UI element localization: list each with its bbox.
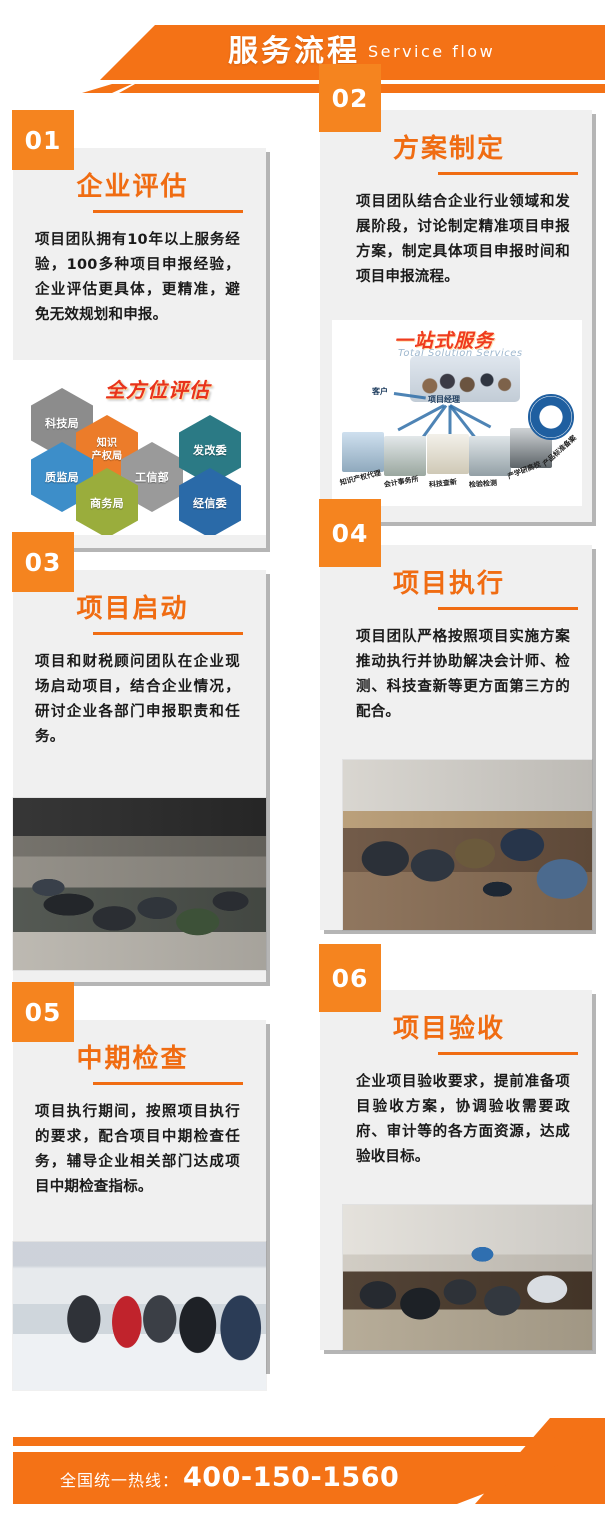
title-underline (438, 172, 578, 175)
step-description: 项目团队结合企业行业领域和发展阶段，讨论制定精准项目申报方案，制定具体项目申报时… (356, 190, 570, 290)
oss-branch-photo (384, 436, 426, 476)
oss-branch-photo (427, 434, 469, 474)
footer-hotline: 全国统一热线： 400-150-1560 (60, 1462, 399, 1493)
oss-certification-seal (528, 394, 574, 440)
step-title: 中期检查 (13, 1042, 252, 1076)
page-title-en: Service flow (368, 42, 495, 61)
step-number-badge: 04 (319, 499, 381, 567)
step-title: 项目验收 (320, 1012, 578, 1046)
step-description: 项目执行期间，按照项目执行的要求，配合项目中期检查任务，辅导企业相关部门达成项目… (35, 1100, 240, 1200)
step-number-badge: 01 (12, 110, 74, 170)
oss-branch-photo (342, 432, 384, 472)
hexagon-diagram: 全方位评估 科技局 知识产权局 质监局 工信部 商务局 发改委 经信委 (13, 360, 266, 535)
photo-conference-room (13, 798, 266, 970)
oss-branch-label: 会计事务所 (383, 474, 419, 490)
photo-boardroom-review (343, 1205, 592, 1350)
step-title: 企业评估 (13, 170, 252, 204)
step-description: 企业项目验收要求，提前准备项目验收方案，协调验收需要政府、审计等的各方面资源，达… (356, 1070, 570, 1170)
step-description: 项目团队拥有10年以上服务经验，100多种项目申报经验，企业评估更具体，更精准，… (35, 228, 240, 328)
oss-branch-label: 检验检测 (469, 478, 498, 490)
oss-branch-photo (469, 436, 511, 476)
header-banner: 服务流程 Service flow (0, 0, 605, 108)
hexagon-node-label: 工信部 (135, 471, 169, 484)
step-number-badge: 05 (12, 982, 74, 1042)
hexagon-node-label: 科技局 (45, 417, 79, 430)
step-number-badge: 06 (319, 944, 381, 1012)
photo-showroom-visit (13, 1242, 266, 1390)
one-stop-service-hub-photo (410, 356, 520, 402)
oss-center-label-client: 客户 (372, 386, 388, 397)
footer-thin-stripe (13, 1437, 592, 1446)
title-underline (438, 607, 578, 610)
step-title: 方案制定 (320, 132, 578, 166)
oss-branch-label: 科技查新 (428, 477, 457, 490)
step-number-badge: 03 (12, 532, 74, 592)
hexagon-node-label: 发改委 (193, 444, 227, 457)
step-title: 项目启动 (13, 592, 252, 626)
step-description: 项目团队严格按照项目实施方案推动执行并协助解决会计师、检测、科技查新等更方面第三… (356, 625, 570, 725)
title-underline (93, 1082, 243, 1085)
one-stop-service-diagram: 一站式服务 Total Solution Services 客户 项目经理 知识… (332, 320, 582, 506)
step-title: 项目执行 (320, 567, 578, 601)
step-description: 项目和财税顾问团队在企业现场启动项目，结合企业情况，研讨企业各部门申报职责和任务… (35, 650, 240, 750)
title-underline (438, 1052, 578, 1055)
hexagon-node-label: 商务局 (90, 497, 124, 510)
hexagon-node-label: 经信委 (193, 497, 227, 510)
step-number-badge: 02 (319, 64, 381, 132)
title-underline (93, 210, 243, 213)
footer-hotline-number[interactable]: 400-150-1560 (183, 1462, 399, 1493)
footer-hotline-label: 全国统一热线： (60, 1467, 179, 1491)
hexagon-node-jingxinwei: 经信委 (179, 468, 241, 535)
hexagon-node-label: 质监局 (45, 471, 79, 484)
title-underline (93, 632, 243, 635)
hexagon-diagram-title: 全方位评估 (105, 374, 210, 403)
photo-working-meeting (343, 760, 592, 930)
hexagon-node-label: 知识产权局 (92, 437, 123, 463)
